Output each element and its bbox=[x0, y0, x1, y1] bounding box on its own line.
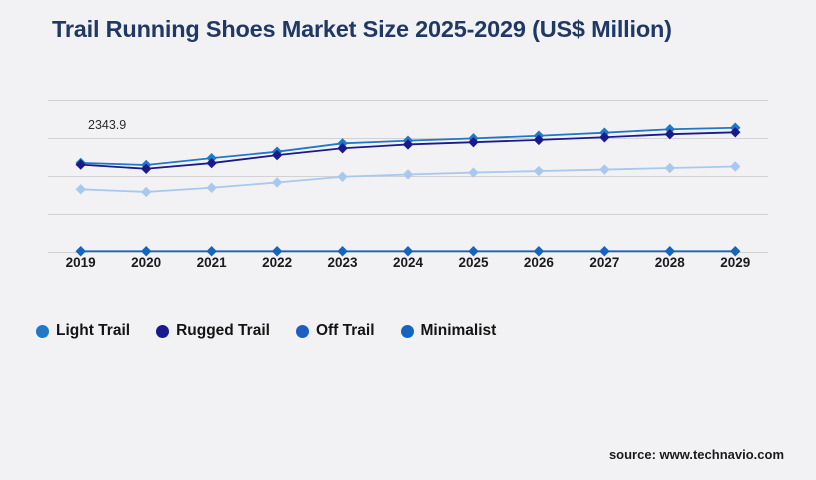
legend-item-rugged-trail[interactable]: Rugged Trail bbox=[156, 322, 270, 340]
x-tick-label-2023: 2023 bbox=[310, 255, 376, 270]
legend-item-off-trail[interactable]: Off Trail bbox=[296, 322, 375, 340]
source-note: source: www.technavio.com bbox=[609, 447, 784, 462]
data-point-marker bbox=[730, 161, 740, 171]
x-tick-label-2029: 2029 bbox=[702, 255, 768, 270]
legend-marker-icon bbox=[36, 325, 49, 338]
data-point-marker bbox=[206, 183, 216, 193]
x-tick-label-2020: 2020 bbox=[113, 255, 179, 270]
x-tick-label-2026: 2026 bbox=[506, 255, 572, 270]
legend-marker-icon bbox=[156, 325, 169, 338]
plot-area bbox=[48, 100, 768, 252]
x-tick-label-2022: 2022 bbox=[244, 255, 310, 270]
data-point-marker bbox=[468, 167, 478, 177]
x-tick-label-2019: 2019 bbox=[48, 255, 114, 270]
series-rugged-trail bbox=[76, 127, 741, 174]
chart-title: Trail Running Shoes Market Size 2025-202… bbox=[52, 16, 782, 43]
x-axis-labels: 2019202020212022202320242025202620272028… bbox=[48, 255, 768, 275]
chart-container: Trail Running Shoes Market Size 2025-202… bbox=[0, 0, 816, 480]
x-tick-label-2027: 2027 bbox=[571, 255, 637, 270]
data-point-marker bbox=[665, 163, 675, 173]
x-tick-label-2021: 2021 bbox=[179, 255, 245, 270]
data-point-marker bbox=[76, 159, 86, 169]
legend-item-light-trail[interactable]: Light Trail bbox=[36, 322, 130, 340]
data-point-marker bbox=[76, 184, 86, 194]
data-point-marker bbox=[599, 164, 609, 174]
legend-item-minimalist[interactable]: Minimalist bbox=[401, 322, 497, 340]
data-point-marker bbox=[141, 187, 151, 197]
data-point-marker bbox=[272, 177, 282, 187]
x-tick-label-2024: 2024 bbox=[375, 255, 441, 270]
legend-label: Rugged Trail bbox=[176, 322, 270, 340]
legend-label: Off Trail bbox=[316, 322, 375, 340]
x-tick-label-2028: 2028 bbox=[637, 255, 703, 270]
data-point-marker bbox=[337, 172, 347, 182]
series-lines-layer bbox=[48, 100, 768, 252]
legend-marker-icon bbox=[296, 325, 309, 338]
data-point-marker bbox=[534, 166, 544, 176]
data-point-marker bbox=[403, 169, 413, 179]
legend-marker-icon bbox=[401, 325, 414, 338]
x-tick-label-2025: 2025 bbox=[441, 255, 507, 270]
chart-legend: Light TrailRugged TrailOff TrailMinimali… bbox=[36, 322, 496, 340]
legend-label: Light Trail bbox=[56, 322, 130, 340]
legend-label: Minimalist bbox=[421, 322, 497, 340]
data-label-light-trail-2019: 2343.9 bbox=[88, 118, 126, 132]
